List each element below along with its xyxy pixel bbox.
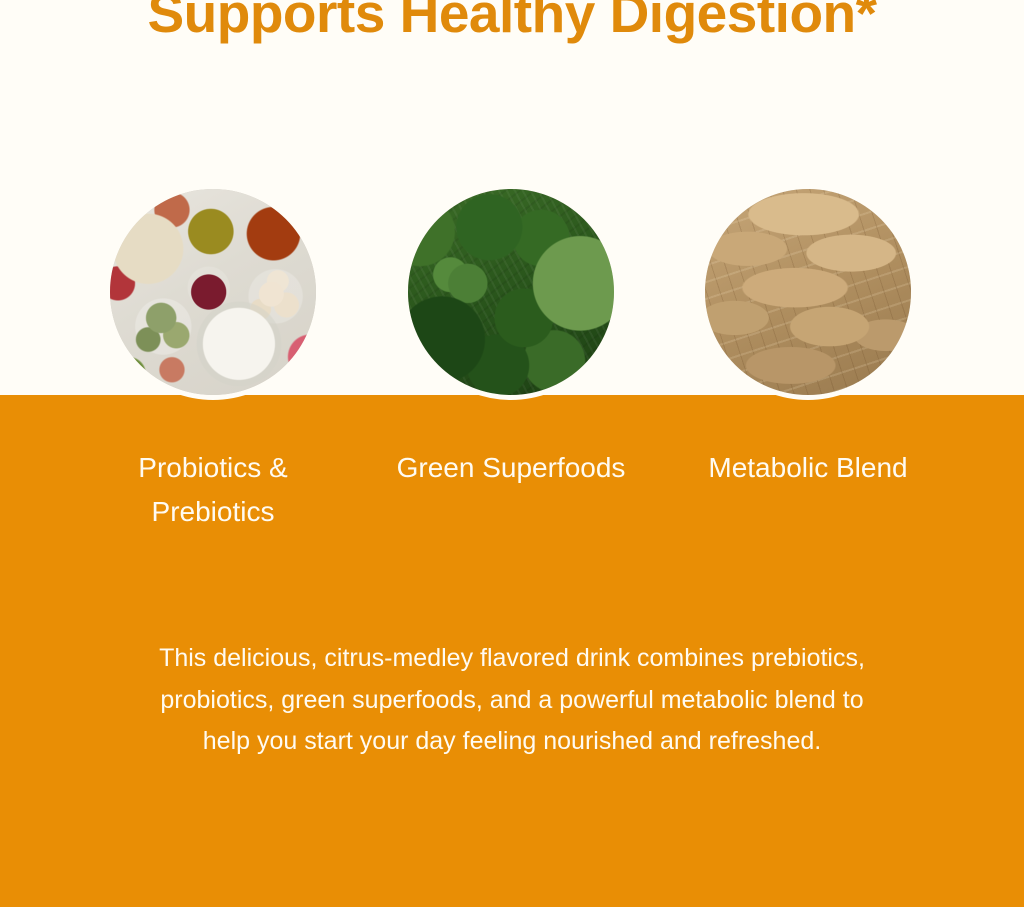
- product-description-paragraph: This delicious, citrus-medley flavored d…: [140, 638, 884, 763]
- product-benefits-section: Supports Healthy Digestion* Probiotics &…: [0, 0, 1024, 907]
- fermented-foods-jars-photo: [105, 184, 321, 400]
- page-headline: Supports Healthy Digestion*: [0, 0, 1024, 45]
- ingredient-caption-metabolic-blend: Metabolic Blend: [678, 446, 938, 490]
- green-vegetables-artwork: [403, 184, 619, 400]
- ingredient-caption-green-superfoods: Green Superfoods: [381, 446, 641, 490]
- ingredient-caption-probiotics-prebiotics: Probiotics & Prebiotics: [83, 446, 343, 534]
- ginger-root-artwork: [700, 184, 916, 400]
- ingredient-item-metabolic-blend: Metabolic Blend: [700, 184, 916, 400]
- ingredient-item-green-superfoods: Green Superfoods: [403, 184, 619, 400]
- ginger-root-photo: [700, 184, 916, 400]
- green-vegetables-photo: [403, 184, 619, 400]
- ingredient-circles-row: Probiotics & Prebiotics Green Superfoods…: [0, 184, 1024, 402]
- ingredient-item-probiotics-prebiotics: Probiotics & Prebiotics: [105, 184, 321, 400]
- fermented-foods-artwork: [105, 184, 321, 400]
